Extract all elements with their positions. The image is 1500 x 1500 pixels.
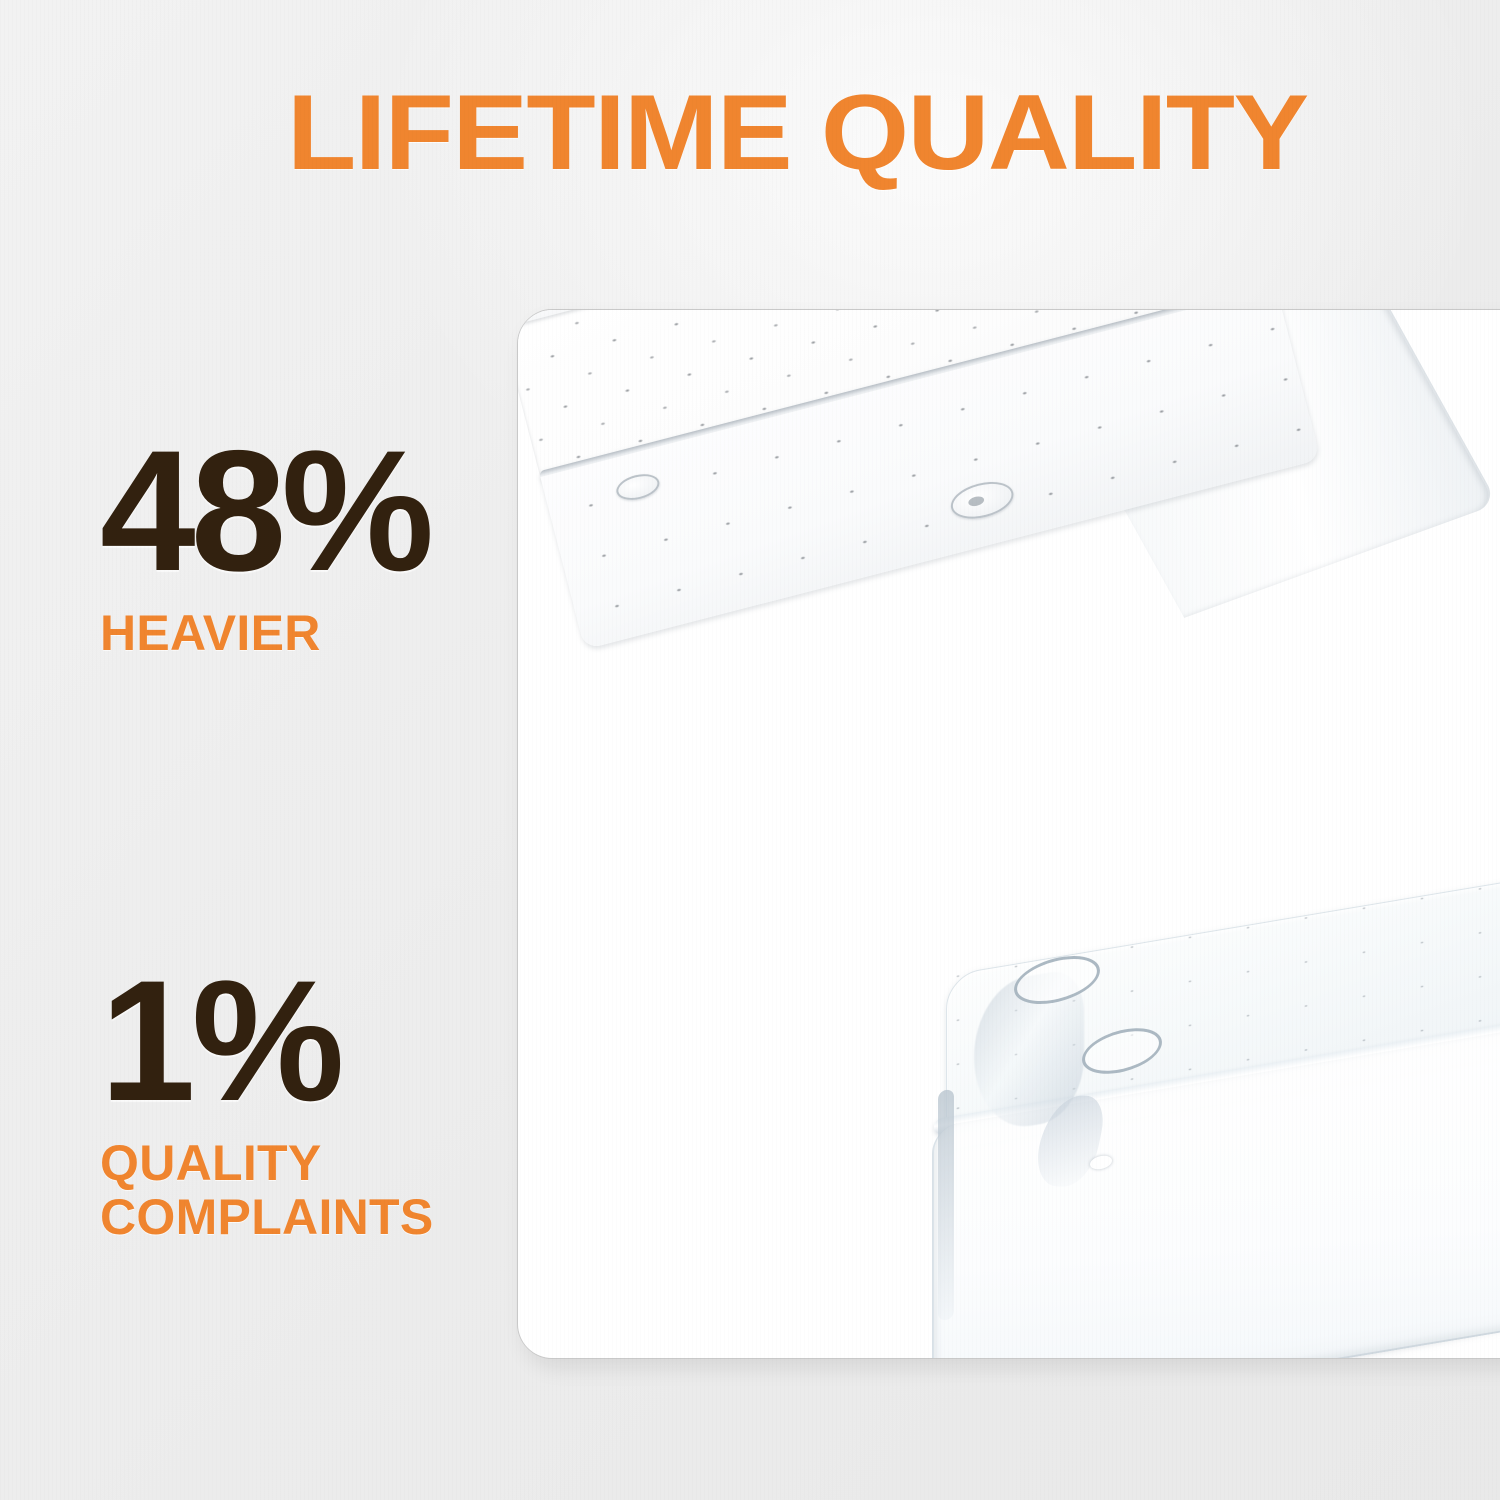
stat-label-heavier-line1: HEAVIER <box>100 606 429 660</box>
page-title: LIFETIME QUALITY <box>262 78 1333 187</box>
stat-value-heavier: 48% <box>100 432 429 590</box>
stat-label-complaints-line1: QUALITY <box>100 1136 434 1190</box>
stat-label-complaints-line2: COMPLAINTS <box>100 1190 434 1244</box>
stat-block-complaints: 1% QUALITY COMPLAINTS <box>100 962 434 1244</box>
others-bin-edge-streak <box>938 1089 954 1322</box>
stat-label-complaints: QUALITY COMPLAINTS <box>100 1136 434 1244</box>
stat-label-heavier: HEAVIER <box>100 606 429 660</box>
promo-graphic: LIFETIME QUALITY 48% HEAVIER 1% QUALITY … <box>0 0 1500 1500</box>
stat-block-heavier: 48% HEAVIER <box>100 432 429 660</box>
others-product-image <box>918 920 1500 1358</box>
product-comparison-card: OURS V S OTHERS <box>518 310 1500 1358</box>
stat-value-complaints: 1% <box>100 962 434 1120</box>
ours-product-image <box>518 310 1382 822</box>
